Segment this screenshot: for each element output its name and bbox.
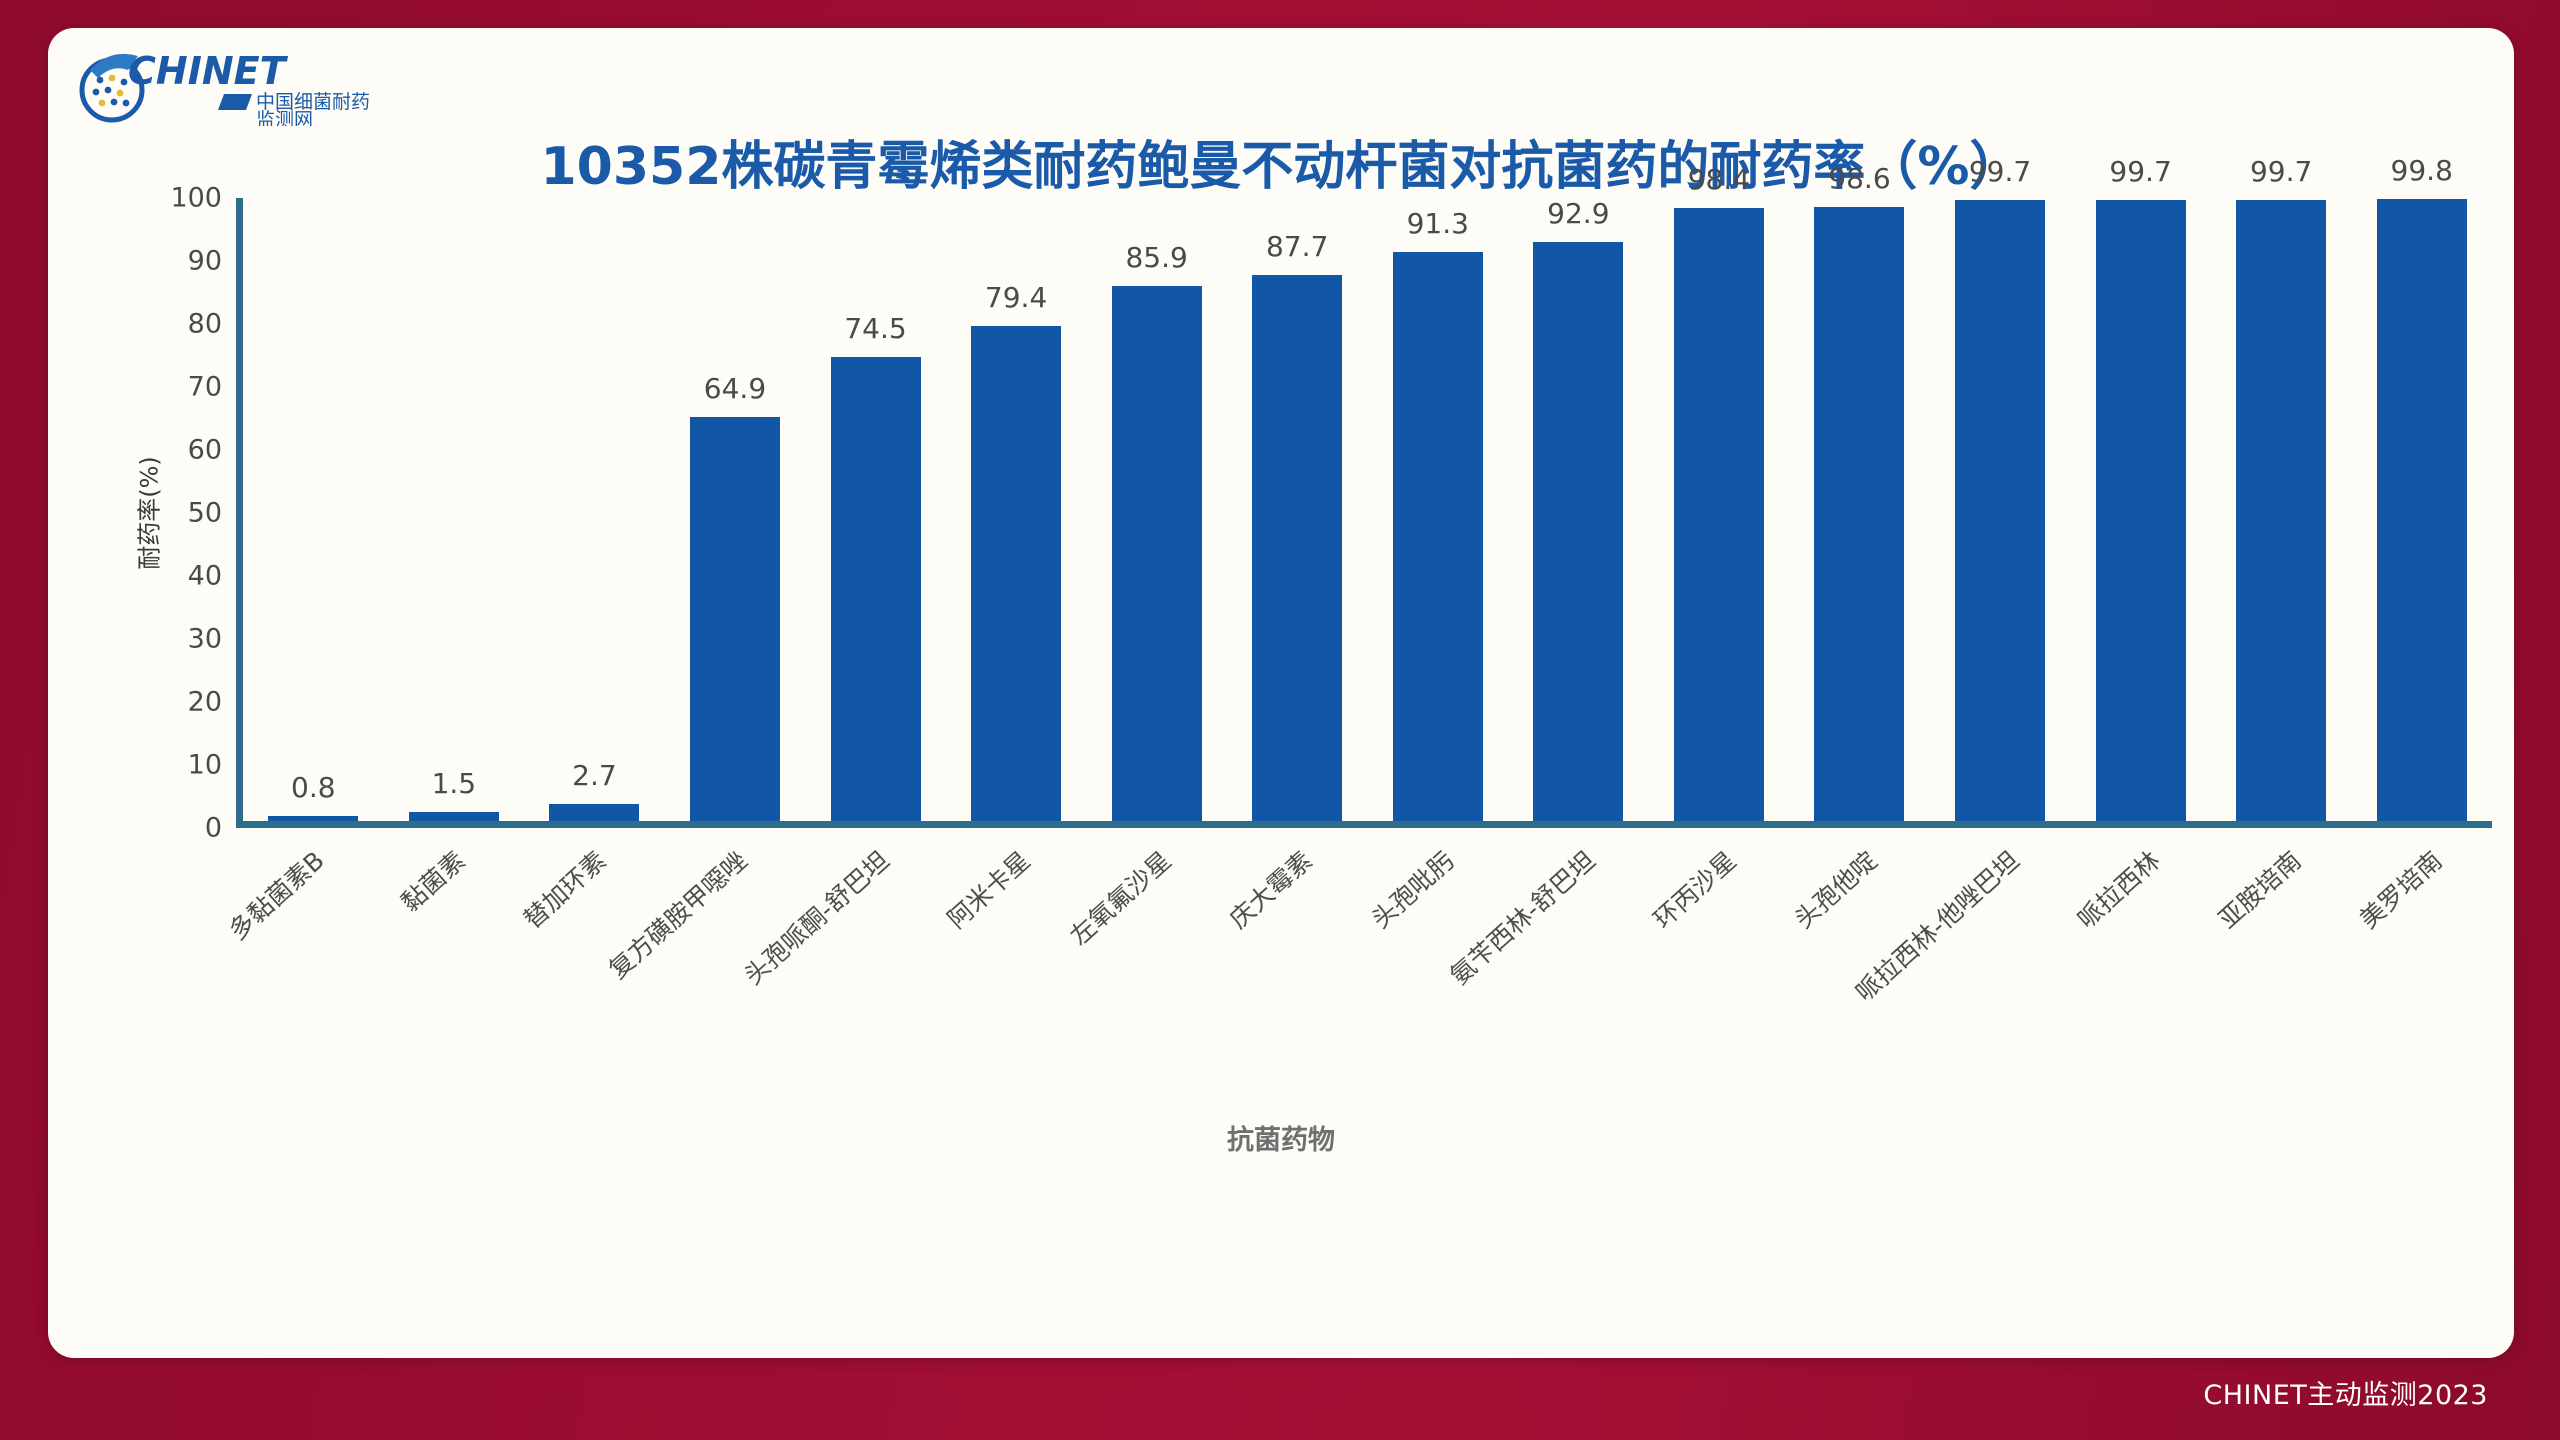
bar-slot[interactable]: 92.9	[1508, 198, 1649, 821]
category-label: 环丙沙星	[1645, 842, 1743, 936]
bar-rect[interactable]	[268, 816, 358, 821]
bar-slot[interactable]: 99.7	[2070, 198, 2211, 821]
category-label: 多黏菌素B	[220, 842, 331, 947]
bar-slot[interactable]: 2.7	[524, 198, 665, 821]
y-tick-label: 90	[188, 246, 222, 277]
category-slot: 环丙沙星	[1649, 836, 1790, 1086]
bar-slot[interactable]: 99.8	[2351, 198, 2492, 821]
category-label: 哌拉西林	[2069, 842, 2167, 936]
bar-rect[interactable]	[1674, 208, 1764, 821]
bar-rect[interactable]	[2236, 200, 2326, 821]
bar-rect[interactable]	[2096, 200, 2186, 821]
chinet-logo: CHINET 中国细菌耐药 监测网	[76, 40, 376, 126]
x-axis-label: 抗菌药物	[48, 1118, 2514, 1157]
logo-accent-shape	[218, 94, 252, 110]
bar-slot[interactable]: 99.7	[2211, 198, 2352, 821]
category-label: 亚胺培南	[2210, 842, 2308, 936]
bar-slot[interactable]: 0.8	[243, 198, 384, 821]
bar-series: 0.81.52.764.974.579.485.987.791.392.998.…	[243, 198, 2492, 821]
category-slot: 美罗培南	[2355, 836, 2496, 1086]
bar-slot[interactable]: 91.3	[1368, 198, 1509, 821]
category-slot: 哌拉西林	[2072, 836, 2213, 1086]
bar-rect[interactable]	[1814, 207, 1904, 821]
bar-rect[interactable]	[1393, 252, 1483, 821]
category-label: 庆大霉素	[1221, 842, 1319, 936]
bar-value-label: 99.8	[2281, 154, 2514, 187]
bar-slot[interactable]: 85.9	[1086, 198, 1227, 821]
y-tick-label: 70	[188, 372, 222, 403]
chart-axes: 0.81.52.764.974.579.485.987.791.392.998.…	[236, 198, 2492, 828]
y-axis-tick-labels: 1009080706050403020100	[166, 198, 236, 828]
category-label: 阿米卡星	[939, 842, 1037, 936]
bar-rect[interactable]	[1955, 200, 2045, 821]
y-tick-label: 40	[188, 561, 222, 592]
category-label: 头孢他啶	[1786, 842, 1884, 936]
bar-slot[interactable]: 79.4	[946, 198, 1087, 821]
bar-slot[interactable]: 98.6	[1789, 198, 1930, 821]
bar-slot[interactable]: 99.7	[1930, 198, 2071, 821]
bar-rect[interactable]	[690, 417, 780, 821]
footer-note: CHINET主动监测2023	[2203, 1373, 2488, 1412]
bar-slot[interactable]: 1.5	[384, 198, 525, 821]
y-tick-label: 80	[188, 309, 222, 340]
bar-rect[interactable]	[831, 357, 921, 821]
category-label: 黏菌素	[392, 842, 472, 919]
category-slot: 阿米卡星	[942, 836, 1083, 1086]
bar-rect[interactable]	[1252, 275, 1342, 821]
category-label: 替加环素	[515, 842, 613, 936]
bar-rect[interactable]	[409, 812, 499, 821]
y-tick-label: 20	[188, 687, 222, 718]
bar-slot[interactable]: 64.9	[665, 198, 806, 821]
bar-slot[interactable]: 98.4	[1649, 198, 1790, 821]
bar-slot[interactable]: 87.7	[1227, 198, 1368, 821]
plot-area: 耐药率(%) 1009080706050403020100 0.81.52.76…	[166, 198, 2496, 828]
slide-background: CHINET 中国细菌耐药 监测网 10352株碳青霉烯类耐药鲍曼不动杆菌对抗菌…	[0, 0, 2560, 1440]
y-axis-label: 耐药率(%)	[129, 456, 164, 570]
category-slot: 头孢哌酮-舒巴坦	[801, 836, 942, 1086]
category-slot: 哌拉西林-他唑巴坦	[1931, 836, 2072, 1086]
bar-rect[interactable]	[1533, 242, 1623, 821]
category-slot: 左氧氟沙星	[1084, 836, 1225, 1086]
category-slot: 氨苄西林-舒巴坦	[1507, 836, 1648, 1086]
bar-rect[interactable]	[549, 804, 639, 821]
category-slot: 多黏菌素B	[236, 836, 377, 1086]
chart-card: CHINET 中国细菌耐药 监测网 10352株碳青霉烯类耐药鲍曼不动杆菌对抗菌…	[48, 28, 2514, 1358]
x-axis-category-labels: 多黏菌素B黏菌素替加环素复方磺胺甲噁唑头孢哌酮-舒巴坦阿米卡星左氧氟沙星庆大霉素…	[236, 836, 2496, 1086]
bar-rect[interactable]	[971, 326, 1061, 821]
y-tick-label: 30	[188, 624, 222, 655]
category-slot: 亚胺培南	[2214, 836, 2355, 1086]
y-tick-label: 50	[188, 498, 222, 529]
category-slot: 庆大霉素	[1225, 836, 1366, 1086]
y-tick-label: 100	[170, 183, 222, 214]
category-label: 头孢吡肟	[1362, 842, 1460, 936]
bar-rect[interactable]	[2377, 199, 2467, 821]
category-label: 美罗培南	[2351, 842, 2449, 936]
category-slot: 黏菌素	[377, 836, 518, 1086]
logo-wordmark: CHINET	[128, 49, 289, 93]
bar-rect[interactable]	[1112, 286, 1202, 821]
y-tick-label: 0	[205, 813, 222, 844]
y-tick-label: 60	[188, 435, 222, 466]
